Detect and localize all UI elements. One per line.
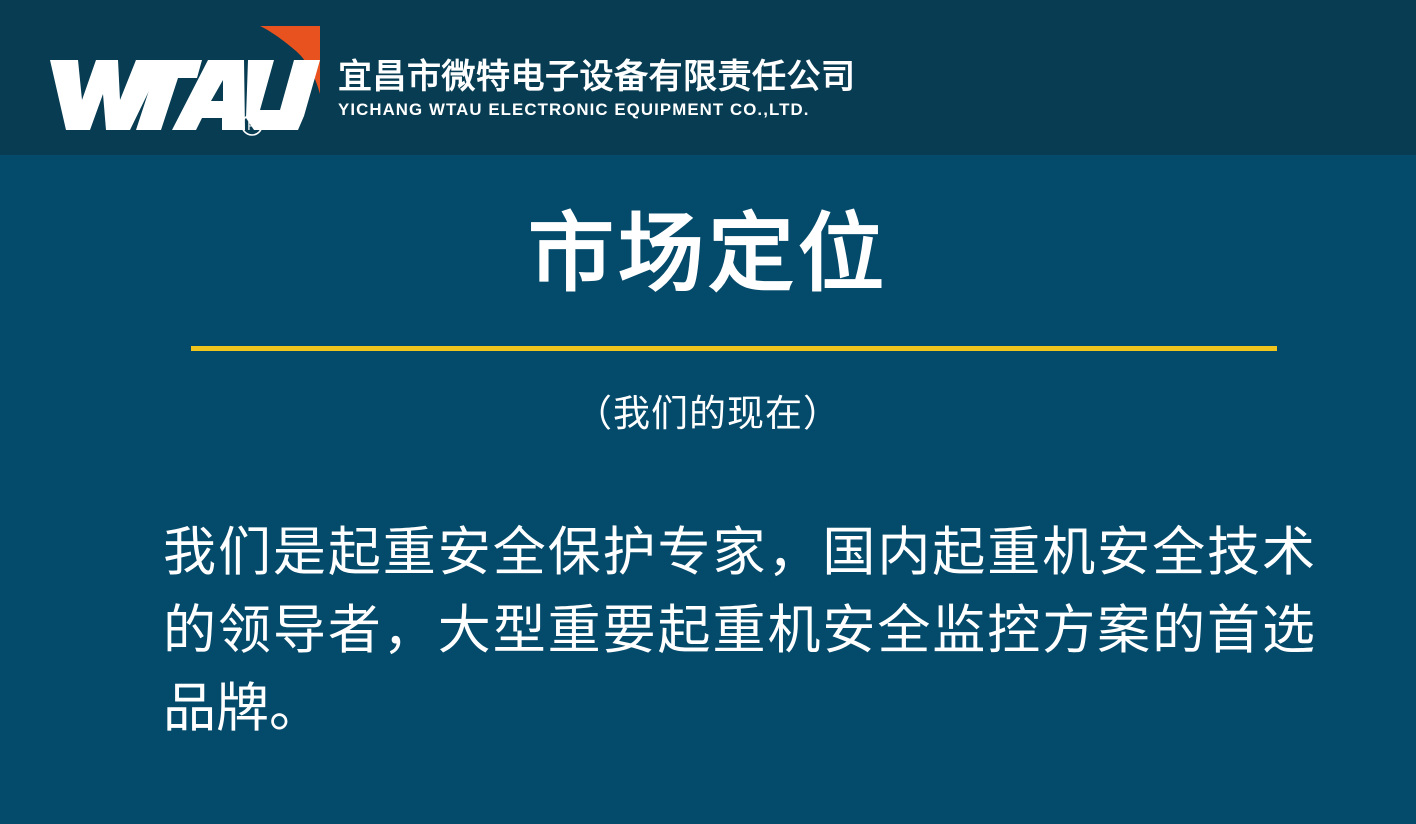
subtitle-area: （我们的现在） xyxy=(0,388,1416,440)
wtau-wordmark-icon xyxy=(50,60,320,130)
svg-text:R: R xyxy=(247,118,256,133)
company-name-en: YICHANG WTAU ELECTRONIC EQUIPMENT CO.,LT… xyxy=(338,99,952,121)
title-area: 市场定位 xyxy=(0,195,1416,313)
company-name-block: 宜昌市微特电子设备有限责任公司 YICHANG WTAU ELECTRONIC … xyxy=(338,57,958,121)
body-area: 我们是起重安全保护专家，国内起重机安全技术的领导者，大型重要起重机安全监控方案的… xyxy=(163,514,1315,748)
company-name-cn: 宜昌市微特电子设备有限责任公司 xyxy=(338,57,958,97)
page-subtitle: （我们的现在） xyxy=(575,388,841,440)
brand-block: R 宜昌市微特电子设备有限责任公司 YICHANG WTAU ELECTRONI… xyxy=(0,0,1416,155)
body-paragraph: 我们是起重安全保护专家，国内起重机安全技术的领导者，大型重要起重机安全监控方案的… xyxy=(163,514,1315,748)
presentation-slide: R 宜昌市微特电子设备有限责任公司 YICHANG WTAU ELECTRONI… xyxy=(0,0,1416,824)
title-divider xyxy=(191,346,1277,351)
wtau-logo-svg: R xyxy=(48,18,320,138)
wtau-logo: R xyxy=(48,18,320,138)
page-title: 市场定位 xyxy=(528,195,888,313)
